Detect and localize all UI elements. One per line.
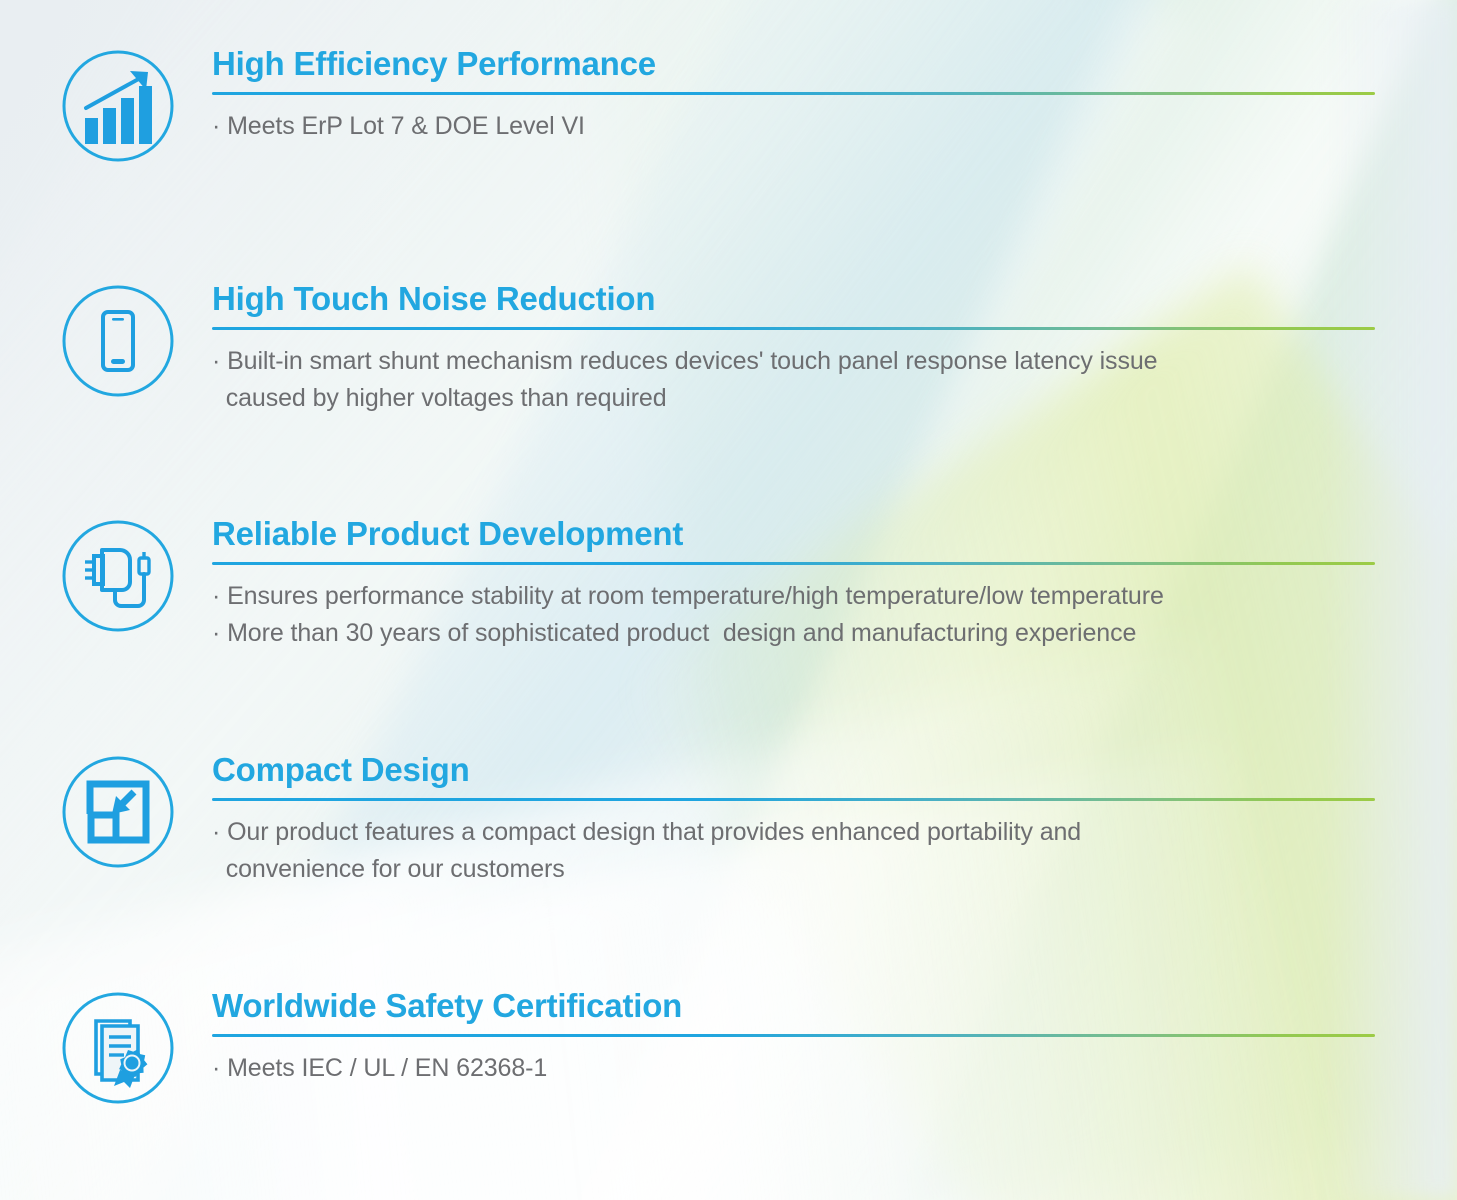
feature-body: Worldwide Safety Certification · Meets I… xyxy=(212,988,1457,1087)
feature-item: Compact Design · Our product features a … xyxy=(0,752,1457,889)
feature-title: High Efficiency Performance xyxy=(212,46,1375,83)
feature-item: Worldwide Safety Certification · Meets I… xyxy=(0,988,1457,1108)
feature-line: · Our product features a compact design … xyxy=(212,814,1375,852)
feature-title: Compact Design xyxy=(212,752,1375,789)
feature-description: · Our product features a compact design … xyxy=(212,814,1375,889)
feature-divider xyxy=(212,798,1375,801)
feature-divider xyxy=(212,327,1375,330)
feature-line: · More than 30 years of sophisticated pr… xyxy=(212,615,1375,653)
feature-line: · Ensures performance stability at room … xyxy=(212,578,1375,616)
smartphone-icon xyxy=(58,281,178,401)
feature-line: · Meets ErP Lot 7 & DOE Level VI xyxy=(212,108,1375,146)
compact-resize-icon xyxy=(58,752,178,872)
power-adapter-icon xyxy=(58,516,178,636)
feature-description: · Meets ErP Lot 7 & DOE Level VI xyxy=(212,108,1375,146)
feature-item: High Touch Noise Reduction · Built-in sm… xyxy=(0,281,1457,418)
feature-body: High Efficiency Performance · Meets ErP … xyxy=(212,46,1457,145)
feature-divider xyxy=(212,92,1375,95)
feature-line: · Meets IEC / UL / EN 62368-1 xyxy=(212,1050,1375,1088)
feature-description: · Ensures performance stability at room … xyxy=(212,578,1375,653)
feature-title: Reliable Product Development xyxy=(212,516,1375,553)
feature-divider xyxy=(212,1034,1375,1037)
feature-line: convenience for our customers xyxy=(212,851,1375,889)
feature-line: · Built-in smart shunt mechanism reduces… xyxy=(212,343,1375,381)
feature-item: Reliable Product Development · Ensures p… xyxy=(0,516,1457,653)
feature-line: caused by higher voltages than required xyxy=(212,380,1375,418)
certificate-award-icon xyxy=(58,988,178,1108)
feature-body: High Touch Noise Reduction · Built-in sm… xyxy=(212,281,1457,418)
feature-title: High Touch Noise Reduction xyxy=(212,281,1375,318)
feature-item: High Efficiency Performance · Meets ErP … xyxy=(0,46,1457,166)
bar-chart-growth-icon xyxy=(58,46,178,166)
feature-list: High Efficiency Performance · Meets ErP … xyxy=(0,0,1457,1200)
feature-title: Worldwide Safety Certification xyxy=(212,988,1375,1025)
feature-body: Reliable Product Development · Ensures p… xyxy=(212,516,1457,653)
feature-body: Compact Design · Our product features a … xyxy=(212,752,1457,889)
feature-divider xyxy=(212,562,1375,565)
feature-description: · Meets IEC / UL / EN 62368-1 xyxy=(212,1050,1375,1088)
feature-description: · Built-in smart shunt mechanism reduces… xyxy=(212,343,1375,418)
